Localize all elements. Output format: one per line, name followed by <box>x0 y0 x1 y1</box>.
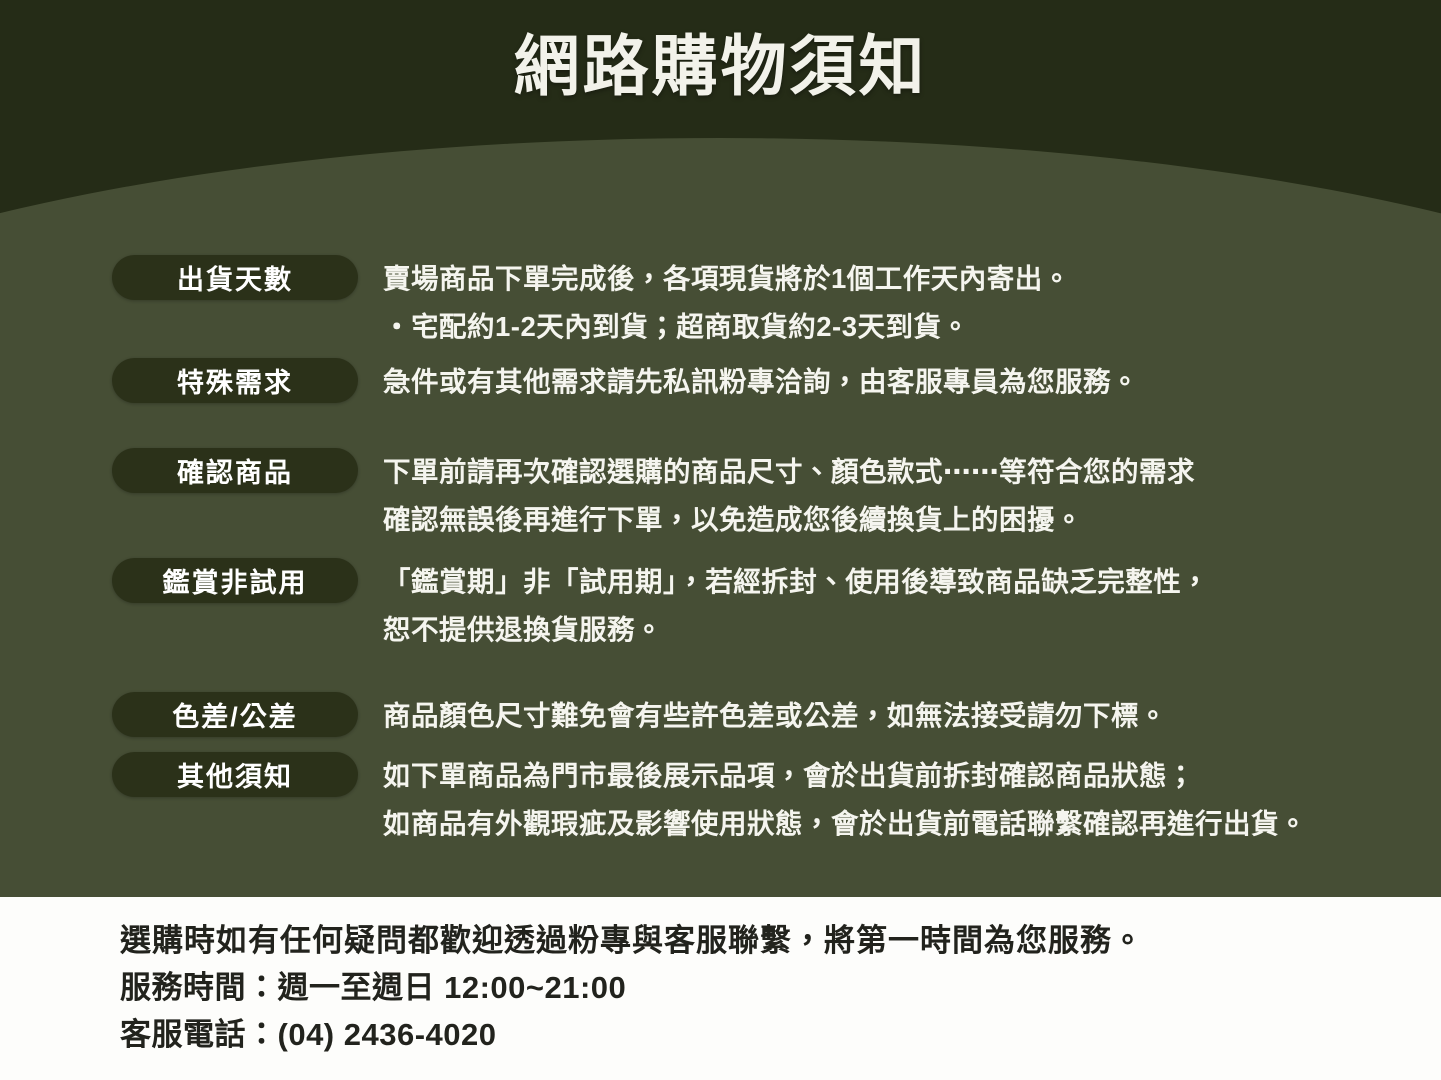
label-pill-shipping-days: 出貨天數 <box>112 255 358 300</box>
footer-service-phone: 客服電話：(04) 2436-4020 <box>120 1011 1441 1058</box>
notice-line: 恕不提供退換貨服務。 <box>383 606 1209 654</box>
contact-footer: 選購時如有任何疑問都歡迎透過粉專與客服聯繫，將第一時間為您服務。 服務時間：週一… <box>0 897 1441 1080</box>
label-pill-inspection-period: 鑑賞非試用 <box>112 558 358 603</box>
notice-row-color-tolerance: 色差/公差 商品顏色尺寸難免會有些許色差或公差，如無法接受請勿下標。 <box>112 692 1167 740</box>
notice-line: 下單前請再次確認選購的商品尺寸、顏色款式⋯⋯等符合您的需求 <box>383 448 1195 496</box>
notice-page: 網路購物須知 出貨天數 賣場商品下單完成後，各項現貨將於1個工作天內寄出。 ・宅… <box>0 0 1441 1080</box>
notice-line: 確認無誤後再進行下單，以免造成您後續換貨上的困擾。 <box>383 496 1195 544</box>
notice-row-inspection-period: 鑑賞非試用 「鑑賞期」非「試用期」，若經拆封、使用後導致商品缺乏完整性， 恕不提… <box>112 558 1209 654</box>
notice-row-special-request: 特殊需求 急件或有其他需求請先私訊粉專洽詢，由客服專員為您服務。 <box>112 358 1139 406</box>
notice-line: 急件或有其他需求請先私訊粉專洽詢，由客服專員為您服務。 <box>383 358 1139 406</box>
notice-row-shipping-days: 出貨天數 賣場商品下單完成後，各項現貨將於1個工作天內寄出。 ・宅配約1-2天內… <box>112 255 1071 351</box>
footer-service-message: 選購時如有任何疑問都歡迎透過粉專與客服聯繫，將第一時間為您服務。 <box>120 917 1441 964</box>
label-pill-confirm-product: 確認商品 <box>112 448 358 493</box>
notice-body-shipping-days: 賣場商品下單完成後，各項現貨將於1個工作天內寄出。 ・宅配約1-2天內到貨；超商… <box>383 255 1071 351</box>
footer-service-hours: 服務時間：週一至週日 12:00~21:00 <box>120 964 1441 1011</box>
notice-body-special-request: 急件或有其他需求請先私訊粉專洽詢，由客服專員為您服務。 <box>383 358 1139 406</box>
notice-line: 「鑑賞期」非「試用期」，若經拆封、使用後導致商品缺乏完整性， <box>383 558 1209 606</box>
page-title: 網路購物須知 <box>0 28 1441 106</box>
notice-body-inspection-period: 「鑑賞期」非「試用期」，若經拆封、使用後導致商品缺乏完整性， 恕不提供退換貨服務… <box>383 558 1209 654</box>
notice-row-confirm-product: 確認商品 下單前請再次確認選購的商品尺寸、顏色款式⋯⋯等符合您的需求 確認無誤後… <box>112 448 1195 544</box>
notice-line: 如商品有外觀瑕疵及影響使用狀態，會於出貨前電話聯繫確認再進行出貨。 <box>383 800 1307 848</box>
label-pill-color-tolerance: 色差/公差 <box>112 692 358 737</box>
notice-line: ・宅配約1-2天內到貨；超商取貨約2-3天到貨。 <box>383 303 1071 351</box>
notice-line: 如下單商品為門市最後展示品項，會於出貨前拆封確認商品狀態； <box>383 752 1307 800</box>
notice-line: 賣場商品下單完成後，各項現貨將於1個工作天內寄出。 <box>383 255 1071 303</box>
notice-body-confirm-product: 下單前請再次確認選購的商品尺寸、顏色款式⋯⋯等符合您的需求 確認無誤後再進行下單… <box>383 448 1195 544</box>
notice-rows: 出貨天數 賣場商品下單完成後，各項現貨將於1個工作天內寄出。 ・宅配約1-2天內… <box>0 0 1441 897</box>
label-pill-other: 其他須知 <box>112 752 358 797</box>
notice-body-color-tolerance: 商品顏色尺寸難免會有些許色差或公差，如無法接受請勿下標。 <box>383 692 1167 740</box>
notice-line: 商品顏色尺寸難免會有些許色差或公差，如無法接受請勿下標。 <box>383 692 1167 740</box>
notice-row-other: 其他須知 如下單商品為門市最後展示品項，會於出貨前拆封確認商品狀態； 如商品有外… <box>112 752 1307 848</box>
label-pill-special-request: 特殊需求 <box>112 358 358 403</box>
notice-body-other: 如下單商品為門市最後展示品項，會於出貨前拆封確認商品狀態； 如商品有外觀瑕疵及影… <box>383 752 1307 848</box>
